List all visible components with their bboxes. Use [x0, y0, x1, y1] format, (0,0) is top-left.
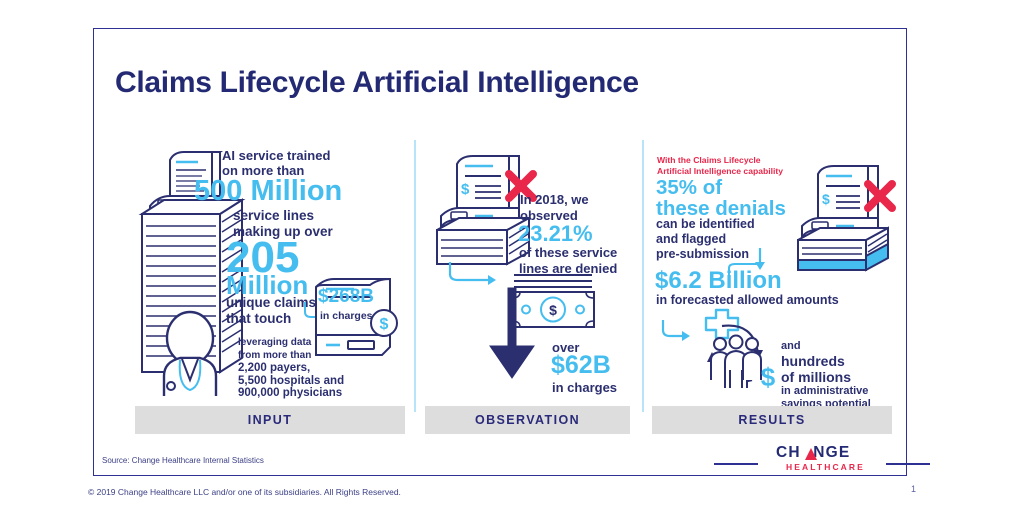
- column-divider-1: [414, 140, 416, 412]
- results-amount-label: in forecasted allowed amounts: [656, 293, 839, 307]
- observation-stat-percent: 23.21%: [518, 222, 593, 245]
- results-savings-text: and hundreds of millions in administrati…: [781, 340, 871, 411]
- observation-amount: $62B: [551, 352, 611, 378]
- section-label-observation-text: OBSERVATION: [475, 413, 580, 427]
- logo-triangle-icon: [805, 448, 817, 460]
- svg-text:$: $: [761, 362, 776, 392]
- input-lead-text: AI service trained on more than: [222, 148, 330, 178]
- results-caption: With the Claims Lifecycle Artificial Int…: [657, 155, 783, 176]
- doctor-icon: [164, 312, 216, 396]
- svg-text:$: $: [461, 181, 470, 198]
- logo-subtitle: HEALTHCARE: [786, 462, 865, 472]
- input-stat-500: 500 Million: [194, 176, 342, 206]
- observation-down-arrow-icon: [486, 288, 546, 384]
- change-healthcare-logo: CHANGE HEALTHCARE: [762, 444, 882, 480]
- section-label-results-text: RESULTS: [738, 413, 805, 427]
- section-label-input-text: INPUT: [248, 413, 293, 427]
- logo-word-suffix: NGE: [813, 444, 850, 461]
- slide-canvas: Claims Lifecycle Artificial Intelligence: [0, 0, 1024, 512]
- logo-rule-right: [886, 463, 930, 465]
- results-sub-text: can be identified and flagged pre-submis…: [656, 217, 755, 262]
- copyright-notice: © 2019 Change Healthcare LLC and/or one …: [88, 487, 401, 497]
- section-label-results: RESULTS: [652, 406, 892, 434]
- section-label-observation: OBSERVATION: [425, 406, 630, 434]
- logo-word-prefix: CH: [776, 444, 801, 461]
- svg-text:$: $: [549, 302, 557, 318]
- column-divider-2: [642, 140, 644, 412]
- source-note: Source: Change Healthcare Internal Stati…: [102, 456, 264, 465]
- section-label-input: INPUT: [135, 406, 405, 434]
- observation-amount-label: in charges: [552, 380, 617, 395]
- page-title: Claims Lifecycle Artificial Intelligence: [115, 66, 639, 100]
- savings-cycle-icon: $: [692, 310, 782, 396]
- observation-lead-text: In 2018, we observed: [520, 192, 589, 223]
- logo-rule-left: [714, 463, 758, 465]
- page-number: 1: [911, 484, 916, 494]
- input-charges-amount: $268B: [318, 287, 374, 307]
- observation-elbow-arrow-icon: [446, 262, 506, 288]
- results-amount: $6.2 Billion: [655, 268, 782, 293]
- results-stat: 35% of these denials: [656, 177, 786, 219]
- results-people-arrow-icon: [660, 318, 694, 344]
- svg-text:$: $: [380, 316, 389, 333]
- svg-text:$: $: [822, 191, 830, 207]
- input-charges-label: in charges: [320, 310, 373, 322]
